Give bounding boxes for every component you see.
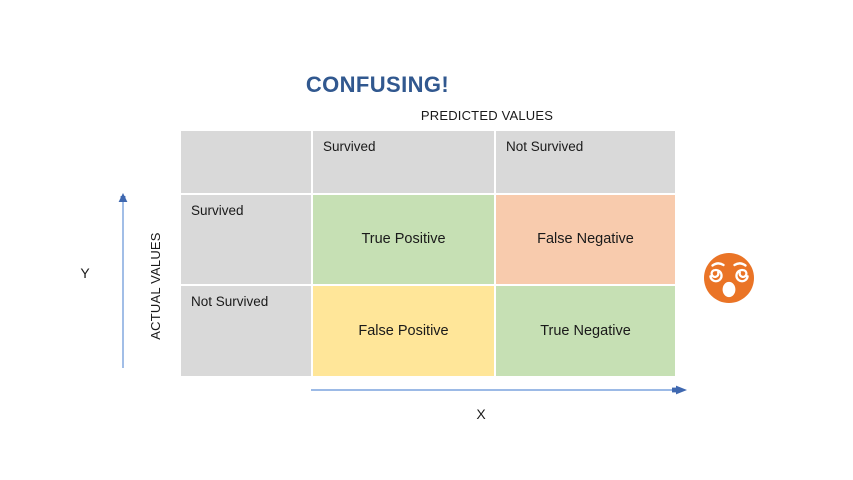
matrix-cell-true-negative: True Negative bbox=[496, 286, 675, 376]
confusion-matrix-table: Survived Not Survived Survived True Posi… bbox=[181, 131, 675, 376]
actual-values-caption: ACTUAL VALUES bbox=[148, 196, 166, 376]
page-title-text: CONFUSING! bbox=[306, 72, 449, 98]
page-title: CONFUSING! bbox=[0, 72, 853, 98]
matrix-column-header-not-survived: Not Survived bbox=[496, 131, 675, 195]
predicted-values-caption: PREDICTED VALUES bbox=[392, 108, 582, 123]
row-header-label: Survived bbox=[181, 195, 311, 218]
column-header-label: Survived bbox=[313, 131, 494, 154]
matrix-cell-true-positive: True Positive bbox=[313, 195, 496, 285]
x-axis-label: X bbox=[470, 406, 492, 422]
y-axis-arrow-icon bbox=[112, 192, 134, 370]
matrix-cell-label: False Positive bbox=[313, 286, 494, 376]
matrix-row-header-survived: Survived bbox=[181, 195, 313, 285]
matrix-row-survived: Survived True Positive False Negative bbox=[181, 195, 675, 285]
x-axis-arrow-icon bbox=[310, 381, 688, 399]
matrix-cell-label: True Negative bbox=[496, 286, 675, 376]
matrix-row-header-not-survived: Not Survived bbox=[181, 286, 313, 376]
dizzy-face-emoji bbox=[703, 252, 755, 304]
matrix-cell-label: False Negative bbox=[496, 195, 675, 283]
matrix-cell-false-positive: False Positive bbox=[313, 286, 496, 376]
matrix-corner-label bbox=[181, 131, 311, 139]
matrix-cell-label: True Positive bbox=[313, 195, 494, 283]
matrix-row-not-survived: Not Survived False Positive True Negativ… bbox=[181, 286, 675, 376]
y-axis-label: Y bbox=[74, 265, 96, 281]
matrix-cell-false-negative: False Negative bbox=[496, 195, 675, 285]
matrix-column-header-survived: Survived bbox=[313, 131, 496, 195]
matrix-header-row: Survived Not Survived bbox=[181, 131, 675, 195]
matrix-corner-cell bbox=[181, 131, 313, 195]
row-header-label: Not Survived bbox=[181, 286, 311, 309]
column-header-label: Not Survived bbox=[496, 131, 675, 154]
